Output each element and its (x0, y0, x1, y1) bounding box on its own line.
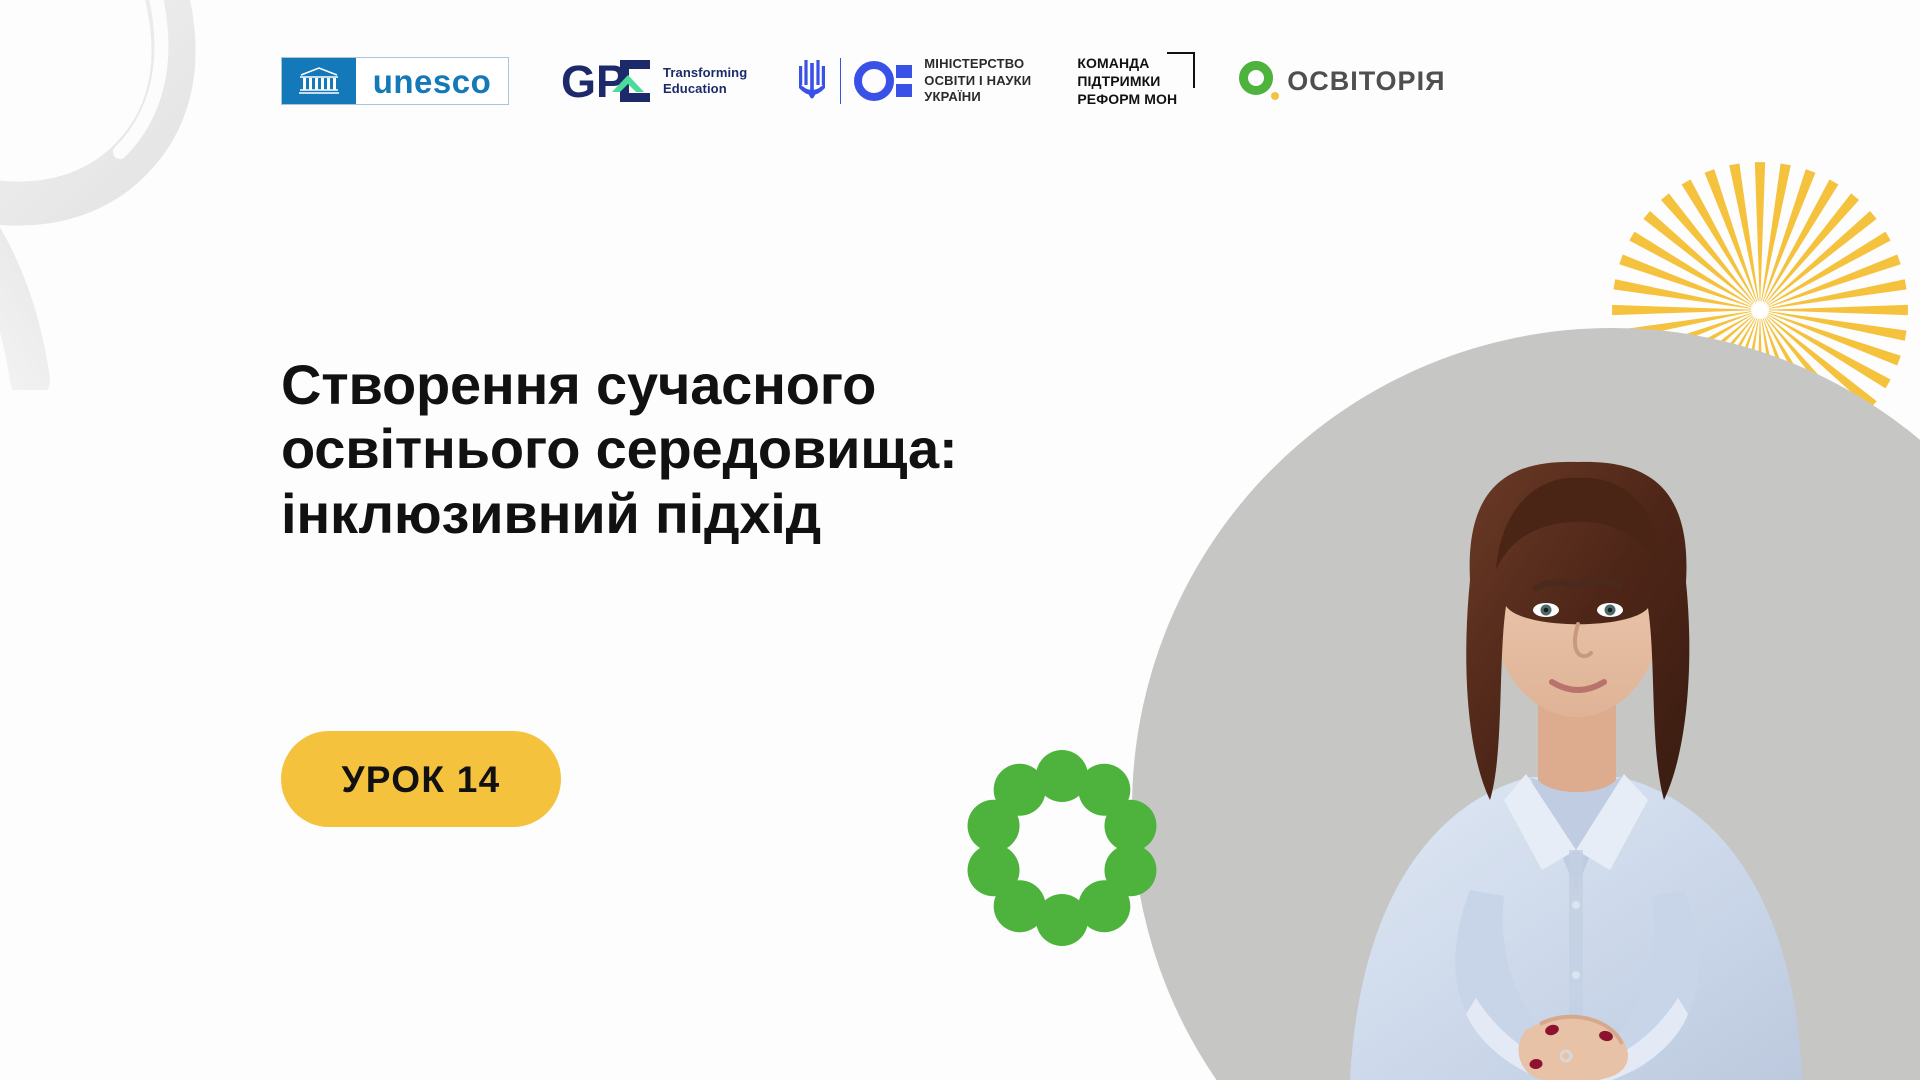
osvitoria-wordmark: ОСВІТОРІЯ (1287, 68, 1445, 95)
ministry-line2: ОСВІТИ І НАУКИ (924, 73, 1031, 90)
svg-text:GP: GP (562, 56, 626, 106)
partner-logo-bar: unesco GP Transforming Education (281, 50, 1445, 112)
mon-circle-square-icon (854, 59, 912, 103)
gpe-tagline-line1: Transforming (663, 65, 747, 81)
logo-unesco: unesco (281, 57, 509, 105)
lesson-badge-label: УРОК 14 (341, 761, 500, 798)
logo-osvitoria: ОСВІТОРІЯ (1239, 61, 1445, 101)
ukraine-trident-icon (797, 58, 827, 104)
logo-reform-support-team: КОМАНДА ПІДТРИМКИ РЕФОРМ МОН (1077, 54, 1195, 109)
reform-team-line2: ПІДТРИМКИ (1077, 72, 1177, 90)
gpe-tagline-line2: Education (663, 81, 747, 97)
slide-title-line2: освітнього середовища: (281, 417, 1181, 482)
background-ribbon-swirl-icon (0, 0, 300, 390)
ministry-name: МІНІСТЕРСТВО ОСВІТИ І НАУКИ УКРАЇНИ (924, 56, 1031, 106)
gpe-tagline: Transforming Education (663, 65, 747, 98)
slide-title-line1: Створення сучасного (281, 353, 1181, 418)
corner-bracket-icon (1167, 52, 1195, 88)
logo-gpe: GP Transforming Education (562, 56, 747, 106)
logo-divider (840, 58, 841, 104)
presenter-portrait (1290, 330, 1850, 1080)
logo-ministry-of-education: МІНІСТЕРСТВО ОСВІТИ І НАУКИ УКРАЇНИ (797, 56, 1031, 106)
slide-title-line3: інклюзивний підхід (281, 482, 1181, 547)
lesson-badge[interactable]: УРОК 14 (281, 731, 561, 827)
reform-team-line1: КОМАНДА (1077, 54, 1177, 72)
ministry-line1: МІНІСТЕРСТВО (924, 56, 1031, 73)
presentation-slide: unesco GP Transforming Education (0, 0, 1920, 1080)
osvitoria-ring-icon (1239, 61, 1279, 101)
slide-title: Створення сучасного освітнього середовищ… (281, 353, 1181, 548)
reform-team-line3: РЕФОРМ МОН (1077, 90, 1177, 108)
unesco-temple-icon (282, 58, 356, 104)
unesco-wordmark: unesco (373, 65, 492, 98)
ministry-line3: УКРАЇНИ (924, 89, 1031, 106)
gpe-mark-icon: GP (562, 56, 654, 106)
osvitoria-dot-icon (1271, 92, 1279, 100)
